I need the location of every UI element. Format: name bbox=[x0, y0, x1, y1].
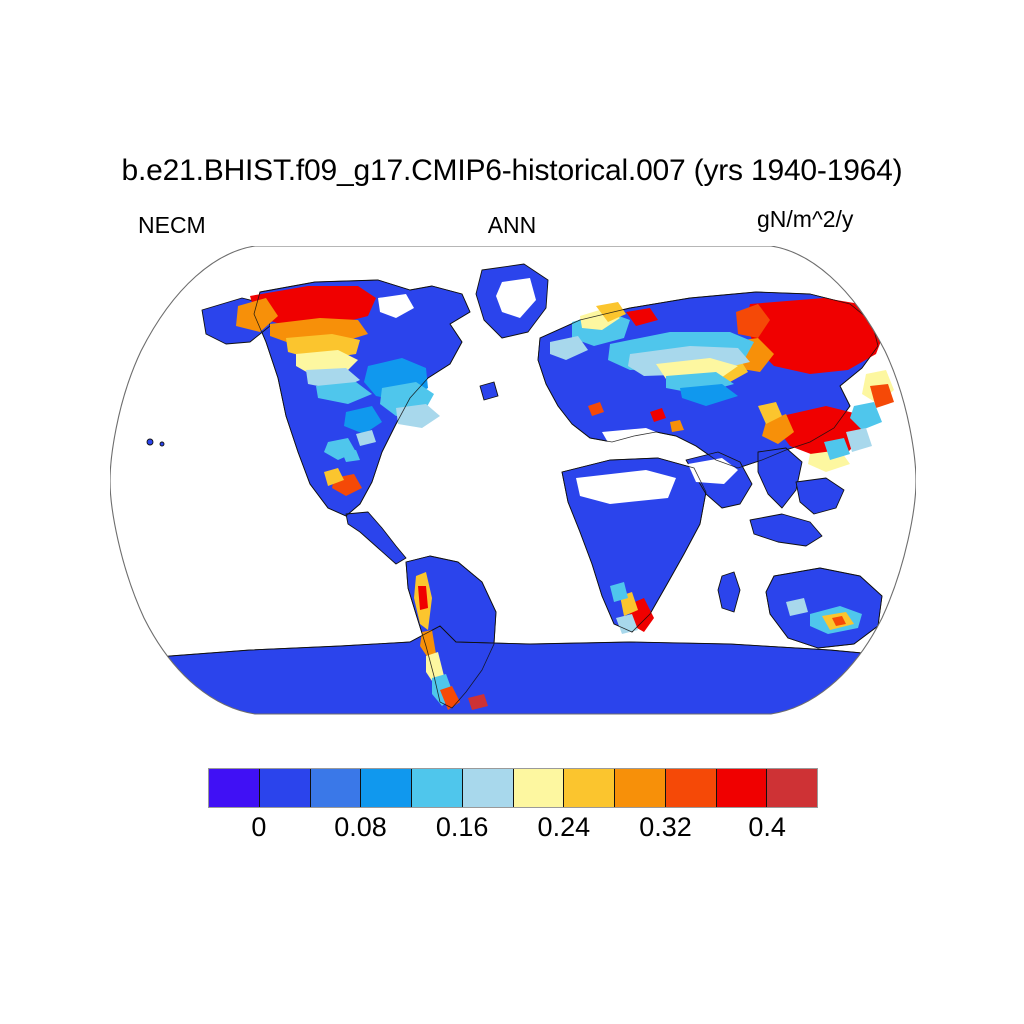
colorbar-swatch-5 bbox=[463, 769, 514, 807]
units-label: gN/m^2/y bbox=[757, 206, 853, 233]
page-title: b.e21.BHIST.f09_g17.CMIP6-historical.007… bbox=[0, 152, 1024, 190]
colorbar-tick-2: 0.16 bbox=[436, 812, 489, 843]
colorbar-tick-1: 0.08 bbox=[334, 812, 387, 843]
season-label: ANN bbox=[0, 212, 1024, 239]
colorbar-swatch-4 bbox=[412, 769, 463, 807]
colorbar-swatch-10 bbox=[717, 769, 768, 807]
world-map-plot bbox=[110, 246, 916, 716]
colorbar-swatch-1 bbox=[260, 769, 311, 807]
colorbar-swatch-3 bbox=[361, 769, 412, 807]
colorbar-tick-4: 0.32 bbox=[639, 812, 692, 843]
colorbar-tick-5: 0.4 bbox=[748, 812, 786, 843]
colorbar-tick-0: 0 bbox=[251, 812, 266, 843]
colorbar-swatch-0 bbox=[209, 769, 260, 807]
colorbar-swatch-2 bbox=[311, 769, 362, 807]
colorbar-tick-labels: 00.080.160.240.320.4 bbox=[208, 812, 818, 852]
colorbar-swatch-11 bbox=[767, 769, 817, 807]
colorbar-swatch-7 bbox=[564, 769, 615, 807]
colorbar-swatch-6 bbox=[514, 769, 565, 807]
colorbar-swatch-8 bbox=[615, 769, 666, 807]
colorbar-swatch-9 bbox=[666, 769, 717, 807]
colorbar-tick-3: 0.24 bbox=[538, 812, 591, 843]
colorbar bbox=[208, 768, 818, 808]
